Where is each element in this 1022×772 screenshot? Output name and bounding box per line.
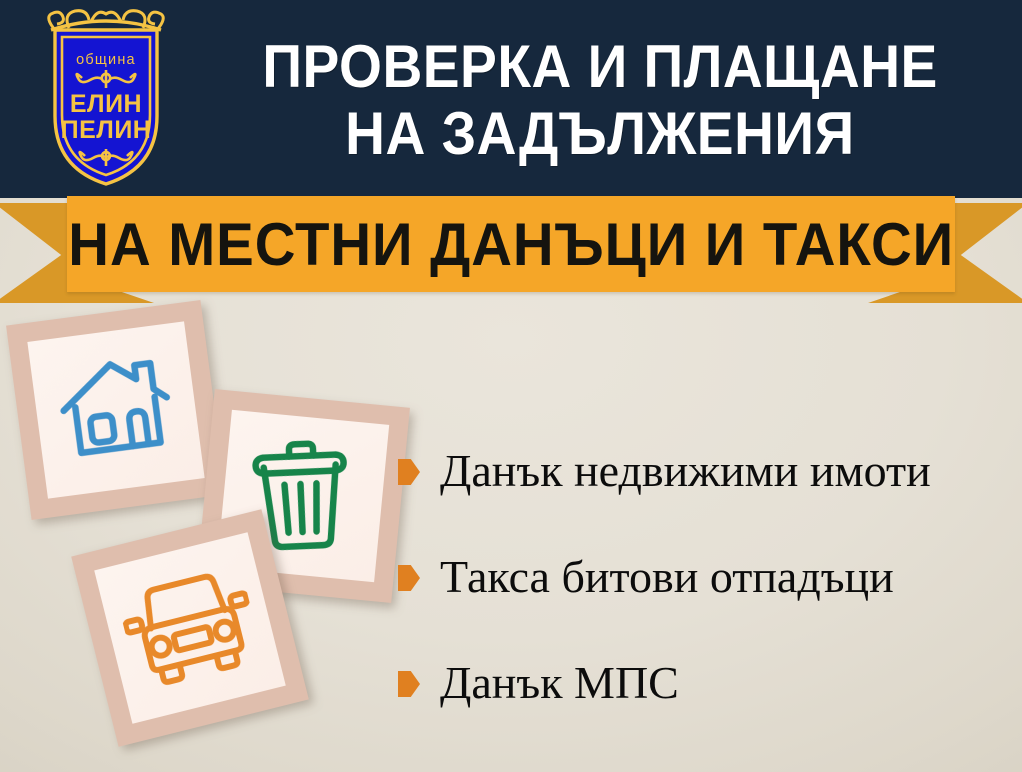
pentagon-arrow-bullet-icon	[398, 671, 420, 697]
page-title: ПРОВЕРКА И ПЛАЩАНЕ НА ЗАДЪЛЖЕНИЯ	[190, 14, 1010, 186]
list-item[interactable]: Такса битови отпадъци	[398, 524, 1010, 630]
svg-text:община: община	[76, 52, 136, 68]
stamp-paper	[27, 321, 204, 498]
pentagon-arrow-bullet-icon	[398, 459, 420, 485]
ribbon-banner: НА МЕСТНИ ДАНЪЦИ И ТАКСИ	[67, 196, 955, 292]
tax-types-list: Данък недвижими имоти Такса битови отпад…	[398, 418, 1010, 736]
list-item-label: Данък МПС	[440, 660, 679, 706]
page-title-line-1: ПРОВЕРКА И ПЛАЩАНЕ	[262, 33, 937, 100]
list-item-label: Такса битови отпадъци	[440, 554, 894, 600]
svg-text:ПЕЛИН: ПЕЛИН	[61, 116, 152, 144]
svg-text:ЕЛИН: ЕЛИН	[70, 90, 142, 118]
list-item-label: Данък недвижими имоти	[440, 448, 931, 494]
page-title-line-2: НА ЗАДЪЛЖЕНИЯ	[345, 100, 855, 167]
stamp-real-estate	[6, 300, 226, 520]
list-item[interactable]: Данък недвижими имоти	[398, 418, 1010, 524]
stamp-collage	[0, 290, 420, 772]
poster-canvas: община ЕЛИН ПЕЛИН ПРОВЕРКА И ПЛАЩАНЕ НА …	[0, 0, 1022, 772]
pentagon-arrow-bullet-icon	[398, 565, 420, 591]
house-icon	[49, 349, 182, 472]
car-front-icon	[115, 561, 265, 695]
list-item[interactable]: Данък МПС	[398, 630, 1010, 736]
ribbon-label: НА МЕСТНИ ДАНЪЦИ И ТАКСИ	[68, 210, 954, 279]
coat-of-arms-shield-icon: община ЕЛИН ПЕЛИН	[33, 8, 179, 188]
subtitle-ribbon: НА МЕСТНИ ДАНЪЦИ И ТАКСИ	[0, 196, 1022, 308]
